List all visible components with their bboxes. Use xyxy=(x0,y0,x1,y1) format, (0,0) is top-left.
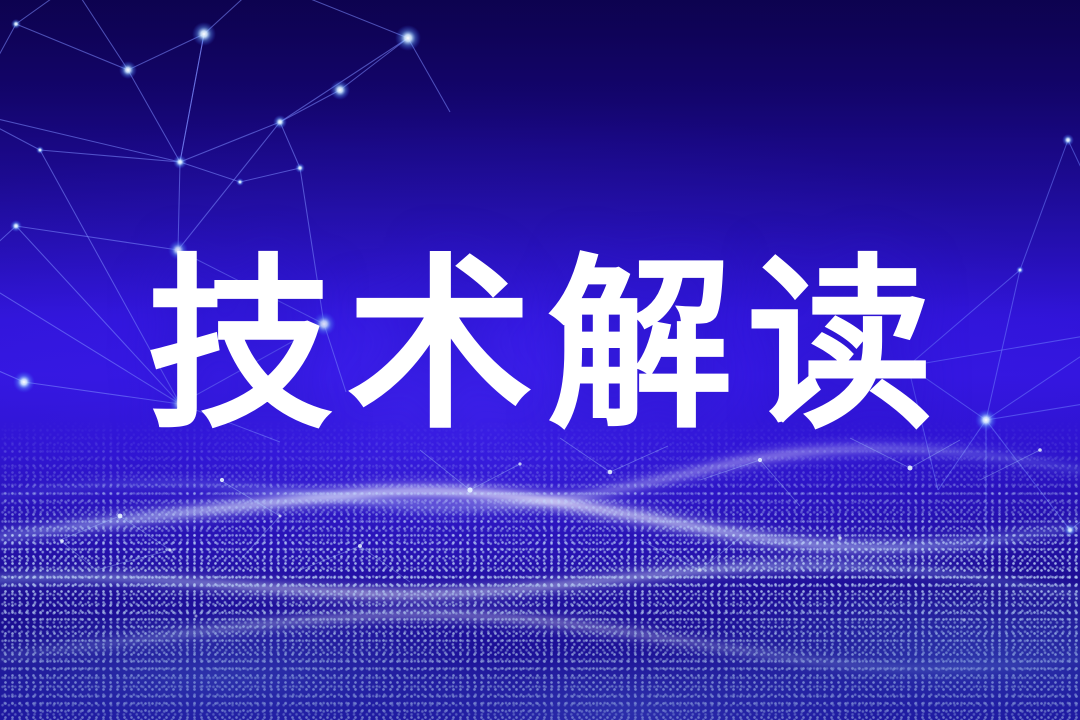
technology-banner: 技术解读 xyxy=(0,0,1080,720)
page-title: 技术解读 xyxy=(0,246,1080,446)
wave-sparkle-nodes xyxy=(0,420,1080,720)
particle-wave-bottom-icon xyxy=(0,420,1080,720)
